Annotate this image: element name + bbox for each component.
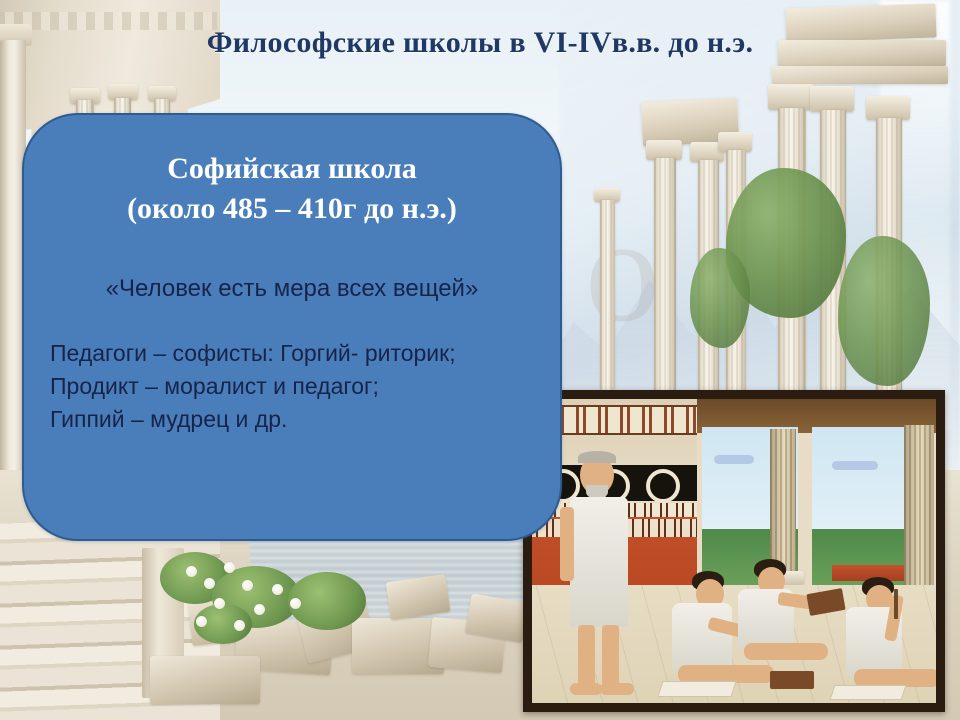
panel-heading-line-1: Софийская школа — [24, 149, 560, 189]
flower — [196, 616, 207, 627]
stylus — [894, 589, 898, 619]
illustration-canvas — [532, 399, 936, 703]
flower — [214, 598, 225, 609]
flower — [204, 578, 215, 589]
tree — [838, 236, 930, 386]
list-item: Гиппий – мудрец и др. — [50, 403, 560, 436]
content-panel: Софийская школа (около 485 – 410г до н.э… — [22, 113, 562, 541]
list-item: Педагоги – софисты: Горгий- риторик; — [50, 337, 560, 370]
panel-heading-line-2: (около 485 – 410г до н.э.) — [24, 189, 560, 229]
floor-mat — [830, 685, 907, 700]
column-capital — [718, 132, 752, 152]
flower — [234, 620, 245, 631]
panel-heading: Софийская школа (около 485 – 410г до н.э… — [24, 149, 560, 229]
illustration-greek-school — [523, 390, 945, 712]
column-capital — [866, 96, 910, 120]
panel-list: Педагоги – софисты: Горгий- риторик; Про… — [50, 337, 560, 436]
panel-quote: «Человек есть мера всех вещей» — [24, 275, 560, 303]
flower — [290, 598, 301, 609]
column-capital — [646, 140, 682, 160]
column — [600, 200, 615, 390]
column-capital — [768, 84, 814, 110]
column — [654, 158, 676, 418]
flower — [254, 604, 265, 615]
slide: о — [0, 0, 960, 720]
flower — [186, 566, 197, 577]
floor-mat — [657, 681, 736, 697]
tree — [690, 248, 750, 348]
rubble-stone — [150, 656, 260, 704]
list-item: Продикт – моралист и педагог; — [50, 370, 560, 403]
teacher-tunic — [570, 497, 628, 627]
teacher-hair — [578, 451, 616, 463]
ruin-cornice — [772, 66, 948, 84]
flower — [224, 562, 235, 573]
teacher-leg — [602, 625, 619, 687]
teacher-foot — [570, 683, 602, 695]
interior-column — [770, 429, 796, 581]
student-tunic — [672, 603, 732, 673]
teacher-leg — [578, 625, 595, 687]
flower — [242, 580, 253, 591]
interior-column — [904, 425, 934, 585]
cloud — [714, 455, 754, 464]
teacher-arm — [560, 507, 574, 581]
teacher-foot — [600, 683, 634, 695]
cloud — [832, 461, 878, 470]
column-capital — [810, 86, 854, 112]
flower — [272, 584, 283, 595]
page-title: Философские школы в VI-IVв.в. до н.э. — [0, 26, 960, 60]
wax-tablet — [770, 671, 814, 689]
student-leg — [744, 643, 828, 660]
spiral-motif — [646, 469, 680, 503]
